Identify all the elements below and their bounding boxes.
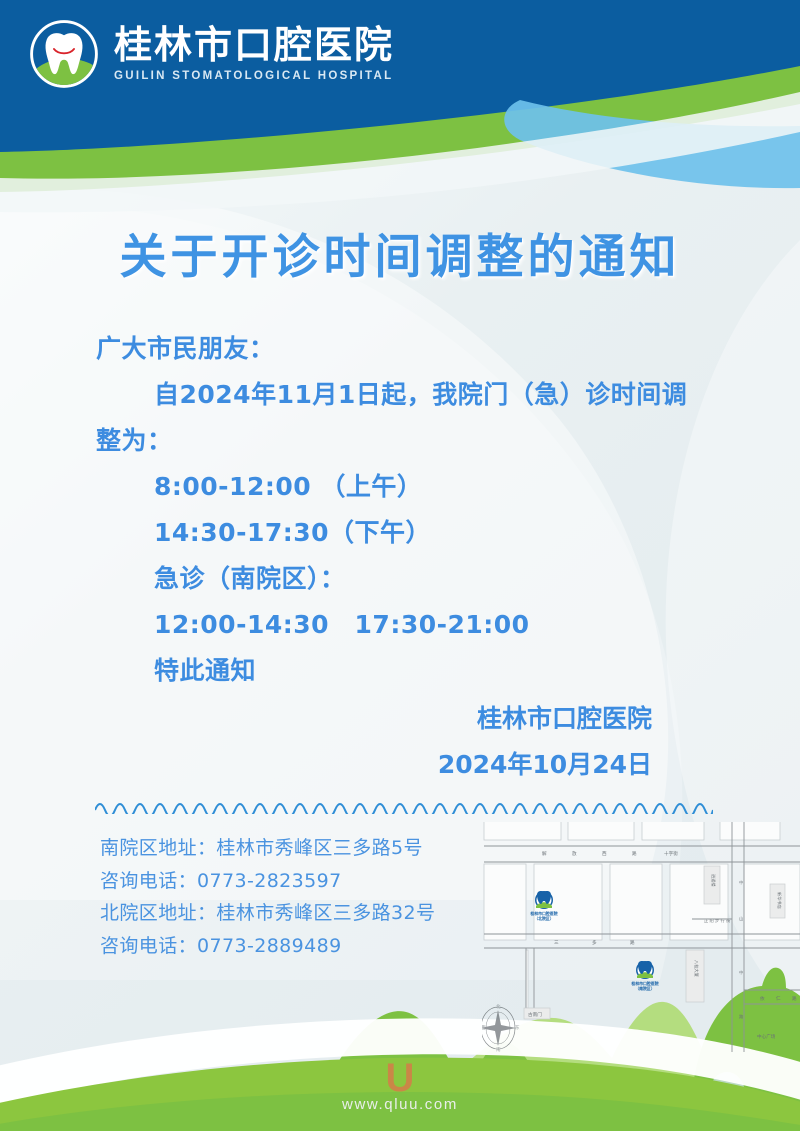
svg-text:山: 山 bbox=[739, 915, 743, 922]
svg-text:（北院区）: （北院区） bbox=[534, 916, 553, 921]
svg-text:中: 中 bbox=[739, 969, 743, 976]
hospital-name-cn: 桂林市口腔医院 bbox=[114, 26, 394, 66]
svg-text:路: 路 bbox=[792, 995, 797, 1002]
body-closing: 特此通知 bbox=[96, 648, 736, 694]
svg-text:逍遥楼: 逍遥楼 bbox=[710, 874, 717, 887]
svg-text:路: 路 bbox=[630, 939, 635, 946]
signature-block: 桂林市口腔医院 2024年10月24日 bbox=[0, 696, 800, 788]
svg-text:西: 西 bbox=[602, 851, 607, 857]
schedule-line-emergency-label: 急诊（南院区）： bbox=[96, 556, 736, 602]
svg-text:中: 中 bbox=[739, 879, 743, 886]
watermark-u-icon: U bbox=[0, 1058, 800, 1098]
notice-poster: 桂林市口腔医院 GUILIN STOMATOLOGICAL HOSPITAL 关… bbox=[0, 0, 800, 1131]
map-marker-south-campus: 桂林市口腔医院 （南院区） bbox=[630, 961, 658, 991]
svg-text:多: 多 bbox=[592, 939, 597, 946]
hospital-logo: 桂林市口腔医院 GUILIN STOMATOLOGICAL HOSPITAL bbox=[28, 18, 394, 90]
contact-line-south-phone: 咨询电话：0773-2823597 bbox=[100, 865, 435, 898]
svg-text:三: 三 bbox=[554, 940, 559, 946]
site-watermark: U www.qluu.com bbox=[0, 1058, 800, 1113]
svg-text:西: 西 bbox=[482, 1025, 486, 1031]
contact-info: 南院区地址：桂林市秀峰区三多路5号 咨询电话：0773-2823597 北院区地… bbox=[100, 832, 435, 962]
wavy-divider bbox=[95, 798, 713, 814]
body-paragraph-line-2: 整为： bbox=[96, 418, 736, 464]
svg-text:十字街: 十字街 bbox=[664, 850, 678, 857]
poster-header: 桂林市口腔医院 GUILIN STOMATOLOGICAL HOSPITAL bbox=[0, 0, 800, 200]
svg-text:路: 路 bbox=[739, 1013, 744, 1020]
svg-text:东: 东 bbox=[515, 1024, 520, 1031]
svg-text:仁: 仁 bbox=[776, 995, 781, 1002]
svg-text:古南门: 古南门 bbox=[528, 1011, 542, 1018]
tooth-in-circle-logo-icon bbox=[28, 18, 100, 90]
compass-rose-icon: 北 南 东 西 bbox=[482, 1003, 520, 1052]
svg-text:新华书店: 新华书店 bbox=[776, 892, 783, 909]
schedule-line-afternoon: 14:30-17:30（下午） bbox=[96, 510, 736, 556]
contact-line-south-address: 南院区地址：桂林市秀峰区三多路5号 bbox=[100, 832, 435, 865]
hospital-name-en: GUILIN STOMATOLOGICAL HOSPITAL bbox=[114, 70, 394, 82]
svg-text:放: 放 bbox=[572, 850, 577, 857]
svg-text:解: 解 bbox=[542, 850, 547, 857]
contact-line-north-phone: 咨询电话：0773-2889489 bbox=[100, 930, 435, 963]
svg-text:路: 路 bbox=[632, 850, 637, 857]
svg-text:正 阳 步 行 街: 正 阳 步 行 街 bbox=[704, 917, 730, 924]
signature-date: 2024年10月24日 bbox=[0, 742, 652, 788]
svg-text:依: 依 bbox=[760, 995, 765, 1002]
body-greeting: 广大市民朋友： bbox=[96, 326, 736, 372]
schedule-line-morning: 8:00-12:00 （上午） bbox=[96, 464, 736, 510]
svg-text:南: 南 bbox=[496, 1046, 501, 1052]
location-map[interactable]: .rd { fill:none; stroke:#8e9498; stroke-… bbox=[482, 822, 800, 1052]
svg-text:北: 北 bbox=[496, 1003, 501, 1010]
svg-text:（南院区）: （南院区） bbox=[635, 986, 654, 991]
svg-text:八桂大厦: 八桂大厦 bbox=[693, 960, 700, 977]
schedule-line-emergency-hours: 12:00-14:30 17:30-21:00 bbox=[96, 602, 736, 648]
svg-text:中心广场: 中心广场 bbox=[757, 1033, 776, 1040]
body-paragraph-line-1: 自2024年11月1日起，我院门（急）诊时间调 bbox=[96, 372, 736, 418]
notice-body: 广大市民朋友： 自2024年11月1日起，我院门（急）诊时间调 整为： 8:00… bbox=[96, 326, 736, 694]
signature-org: 桂林市口腔医院 bbox=[0, 696, 652, 742]
contact-line-north-address: 北院区地址：桂林市秀峰区三多路32号 bbox=[100, 897, 435, 930]
page-title: 关于开诊时间调整的通知 bbox=[0, 218, 800, 287]
